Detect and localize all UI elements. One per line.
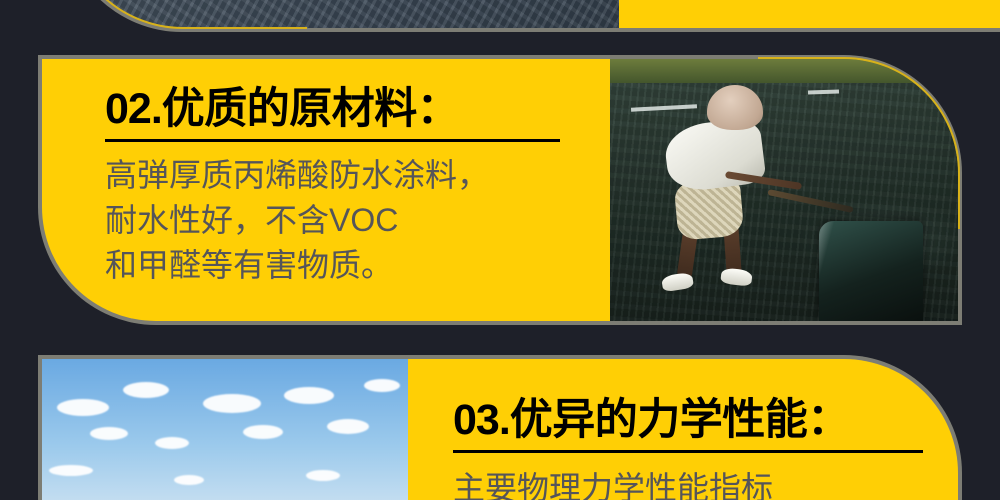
- feature-card-02-inner: 02.优质的原材料： 高弹厚质丙烯酸防水涂料， 耐水性好，不含VOC 和甲醛等有…: [42, 59, 958, 321]
- feature-card-01-text-pane: [619, 0, 1000, 28]
- feature-card-03-number: 03.: [453, 396, 510, 444]
- feature-card-02-body: 高弹厚质丙烯酸防水涂料， 耐水性好，不含VOC 和甲醛等有害物质。: [105, 153, 610, 287]
- feature-card-03-inner: 03.优异的力学性能： 主要物理力学性能指标: [42, 359, 958, 500]
- aerial-rocky-terrain-photo: [66, 0, 619, 28]
- photo-cloud: [284, 387, 334, 404]
- product-detail-page: 02.优质的原材料： 高弹厚质丙烯酸防水涂料， 耐水性好，不含VOC 和甲醛等有…: [0, 0, 1000, 500]
- feature-card-02: 02.优质的原材料： 高弹厚质丙烯酸防水涂料， 耐水性好，不含VOC 和甲醛等有…: [38, 55, 962, 325]
- feature-card-02-heading: 02.优质的原材料：: [105, 86, 459, 132]
- photo-cloud: [90, 427, 128, 440]
- tidal-flat-beach-with-people-photo: [42, 359, 408, 500]
- photo-cloud: [49, 465, 93, 476]
- feature-card-01-inner: [66, 0, 1000, 28]
- feature-card-03-title: 优异的力学性能：: [510, 396, 850, 444]
- feature-card-02-text-pane: 02.优质的原材料： 高弹厚质丙烯酸防水涂料， 耐水性好，不含VOC 和甲醛等有…: [42, 59, 610, 321]
- photo-grass-band: [610, 59, 958, 83]
- worker-spreading-waterproof-coating-photo: [610, 59, 958, 321]
- feature-card-03-body: 主要物理力学性能指标: [453, 466, 958, 500]
- photo-worker-hat: [707, 85, 763, 130]
- feature-card-03-text-pane: 03.优异的力学性能： 主要物理力学性能指标: [408, 359, 958, 500]
- photo-cloud: [243, 425, 283, 439]
- feature-card-02-number: 02.: [105, 85, 162, 133]
- feature-card-03-underline: [453, 450, 923, 453]
- feature-card-01: [62, 0, 1000, 32]
- photo-cloud: [174, 475, 204, 485]
- photo-cloud: [306, 470, 340, 481]
- photo-cloud: [123, 382, 169, 398]
- feature-card-03: 03.优异的力学性能： 主要物理力学性能指标: [38, 355, 962, 500]
- feature-card-02-title: 优质的原材料：: [162, 85, 460, 133]
- photo-tar-pool: [819, 221, 923, 321]
- feature-card-03-heading: 03.优异的力学性能：: [453, 397, 850, 443]
- feature-card-02-underline: [105, 139, 560, 142]
